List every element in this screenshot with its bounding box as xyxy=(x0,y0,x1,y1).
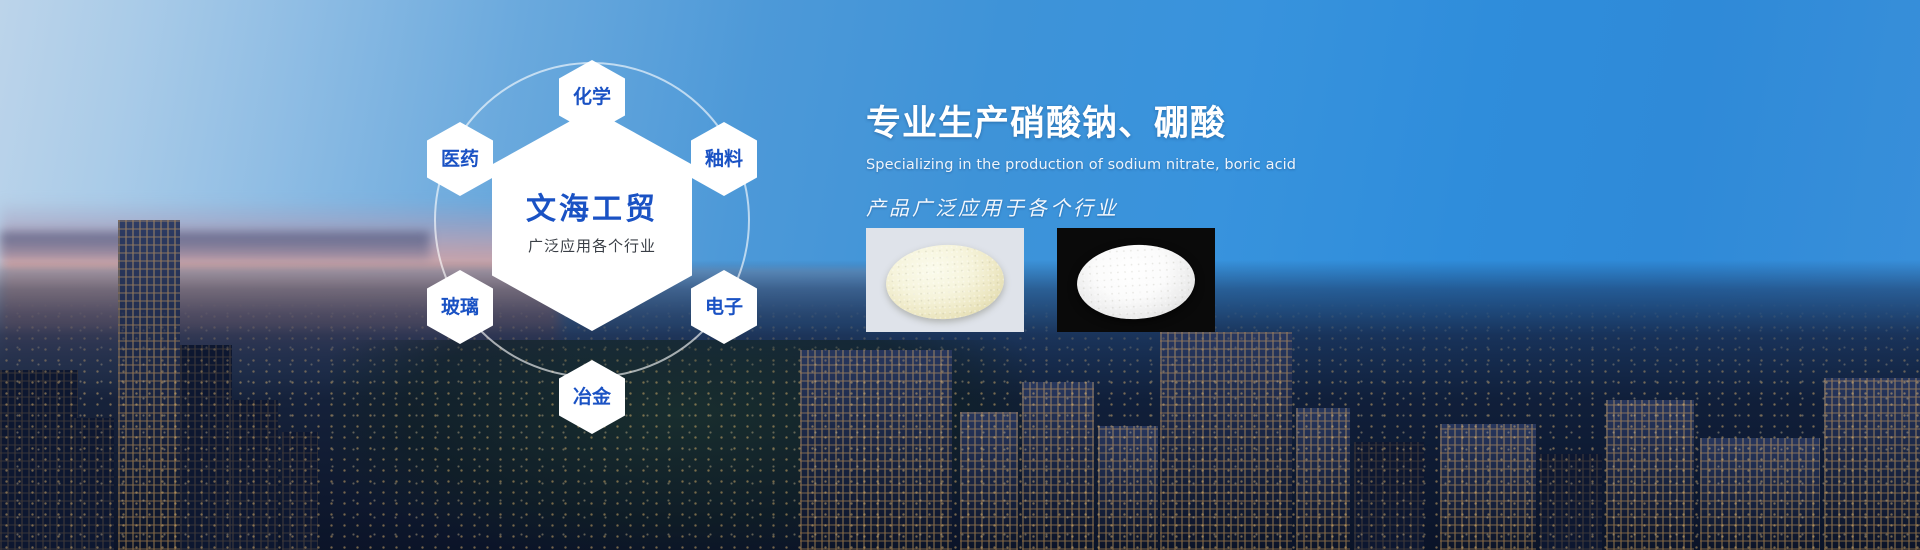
headline-block: 专业生产硝酸钠、硼酸 Specializing in the productio… xyxy=(866,103,1566,221)
company-tagline: 广泛应用各个行业 xyxy=(528,235,656,256)
powder-pile xyxy=(1075,242,1197,322)
city-lights xyxy=(0,300,1920,550)
industry-hexagon-diagram: 化学 釉料 电子 冶金 玻璃 医药 文海工贸 广泛应用各个行业 xyxy=(412,22,772,442)
powder-grain-texture xyxy=(1075,242,1197,322)
product-photo-row xyxy=(866,228,1215,332)
company-name: 文海工贸 xyxy=(526,184,658,228)
hex-node-label: 医药 xyxy=(441,150,479,169)
background-cloud-band xyxy=(0,232,430,260)
banner-headline: 专业生产硝酸钠、硼酸 xyxy=(866,103,1566,146)
powder-grain-texture xyxy=(884,242,1006,322)
hex-node-label: 玻璃 xyxy=(441,298,479,317)
hex-node-label: 冶金 xyxy=(573,388,611,407)
hex-node-label: 电子 xyxy=(705,298,743,317)
product-photo-sodium-nitrate[interactable] xyxy=(866,228,1024,332)
product-photo-boric-acid[interactable] xyxy=(1057,228,1215,332)
powder-pile xyxy=(884,242,1006,322)
hex-node-label: 釉料 xyxy=(705,150,743,169)
banner-subheadline-english: Specializing in the production of sodium… xyxy=(866,157,1566,173)
hex-node-label: 化学 xyxy=(573,88,611,107)
promotional-banner: 化学 釉料 电子 冶金 玻璃 医药 文海工贸 广泛应用各个行业 专业生产硝酸钠、… xyxy=(0,0,1920,550)
banner-subheadline-chinese: 产品广泛应用于各个行业 xyxy=(866,192,1566,221)
